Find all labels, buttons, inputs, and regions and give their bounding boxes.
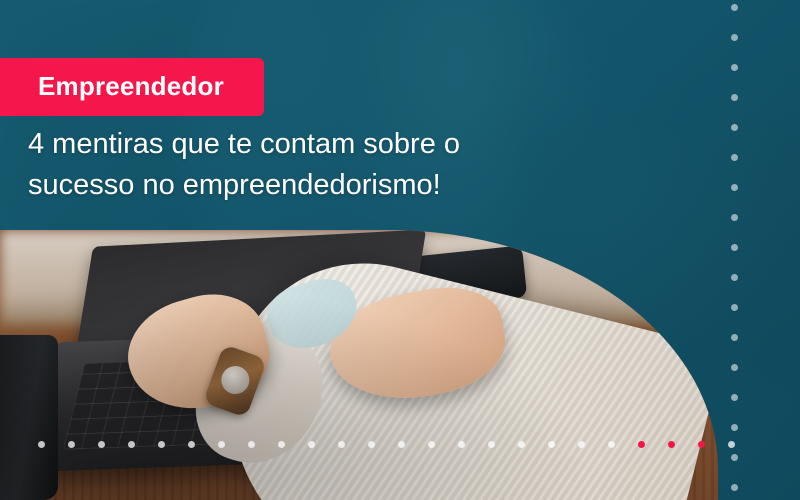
headline-line-2: sucesso no empreendedorismo! bbox=[28, 165, 548, 206]
dot bbox=[731, 454, 738, 461]
decorative-dot-row bbox=[38, 441, 735, 448]
dot bbox=[38, 441, 45, 448]
dot bbox=[731, 124, 738, 131]
dot-accent bbox=[698, 441, 705, 448]
headline-line-1: 4 mentiras que te contam sobre o bbox=[28, 124, 548, 165]
dot bbox=[731, 424, 738, 431]
dot bbox=[731, 4, 738, 11]
dot bbox=[731, 334, 738, 341]
dot bbox=[248, 441, 255, 448]
dot bbox=[731, 304, 738, 311]
dot bbox=[68, 441, 75, 448]
category-tag: Empreendedor bbox=[0, 58, 264, 116]
dot bbox=[731, 94, 738, 101]
dot bbox=[428, 441, 435, 448]
vignette-shadow bbox=[0, 230, 718, 500]
dot bbox=[488, 441, 495, 448]
dot bbox=[731, 484, 738, 491]
dot bbox=[308, 441, 315, 448]
dot bbox=[518, 441, 525, 448]
dot bbox=[158, 441, 165, 448]
dot bbox=[731, 364, 738, 371]
dot bbox=[398, 441, 405, 448]
dot bbox=[731, 184, 738, 191]
blog-post-banner: Empreendedor 4 mentiras que te contam so… bbox=[0, 0, 800, 500]
dot bbox=[728, 441, 735, 448]
dot bbox=[731, 274, 738, 281]
dot bbox=[218, 441, 225, 448]
dot bbox=[458, 441, 465, 448]
dot bbox=[188, 441, 195, 448]
dot bbox=[578, 441, 585, 448]
dot bbox=[731, 244, 738, 251]
dot bbox=[338, 441, 345, 448]
page-title: 4 mentiras que te contam sobre o sucesso… bbox=[28, 124, 548, 206]
dot-accent bbox=[668, 441, 675, 448]
dot bbox=[731, 34, 738, 41]
dot bbox=[608, 441, 615, 448]
dot bbox=[98, 441, 105, 448]
dot bbox=[368, 441, 375, 448]
dot bbox=[278, 441, 285, 448]
dot bbox=[731, 394, 738, 401]
dot bbox=[731, 214, 738, 221]
background-photo-bottom bbox=[0, 230, 718, 500]
dot bbox=[548, 441, 555, 448]
dot bbox=[128, 441, 135, 448]
decorative-dot-column bbox=[731, 4, 738, 500]
dot bbox=[731, 154, 738, 161]
dot-accent bbox=[638, 441, 645, 448]
dot bbox=[731, 64, 738, 71]
